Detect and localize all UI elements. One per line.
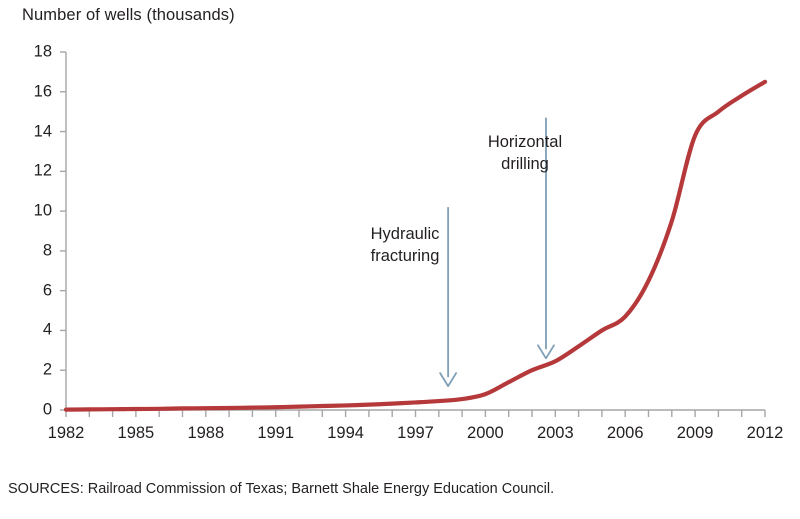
y-tick-label: 16 — [12, 82, 52, 101]
x-tick-label: 2003 — [520, 424, 590, 443]
x-tick-label: 2000 — [450, 424, 520, 443]
annotation-hydraulic-fracturing: Hydraulic fracturing — [300, 223, 510, 268]
x-tick-label: 2012 — [730, 424, 800, 443]
x-tick-label: 1991 — [241, 424, 311, 443]
x-tick-label: 1985 — [101, 424, 171, 443]
x-tick-label: 1997 — [381, 424, 451, 443]
annotation-horizontal-drilling: Horizontal drilling — [420, 131, 630, 176]
x-tick-label: 1982 — [31, 424, 101, 443]
y-tick-label: 2 — [12, 361, 52, 380]
y-tick-label: 8 — [12, 241, 52, 260]
y-tick-label: 10 — [12, 202, 52, 221]
x-tick-label: 1994 — [311, 424, 381, 443]
x-tick-label: 1988 — [171, 424, 241, 443]
source-note: SOURCES: Railroad Commission of Texas; B… — [8, 481, 554, 497]
chart-container: Number of wells (thousands) 024681012141… — [0, 0, 800, 519]
x-tick-label: 2009 — [660, 424, 730, 443]
y-tick-label: 6 — [12, 281, 52, 300]
y-tick-label: 14 — [12, 122, 52, 141]
y-axis — [60, 52, 66, 410]
y-tick-label: 0 — [12, 401, 52, 420]
x-tick-label: 2006 — [590, 424, 660, 443]
y-tick-label: 12 — [12, 162, 52, 181]
y-tick-label: 4 — [12, 321, 52, 340]
y-tick-label: 18 — [12, 43, 52, 62]
x-axis — [66, 410, 765, 417]
